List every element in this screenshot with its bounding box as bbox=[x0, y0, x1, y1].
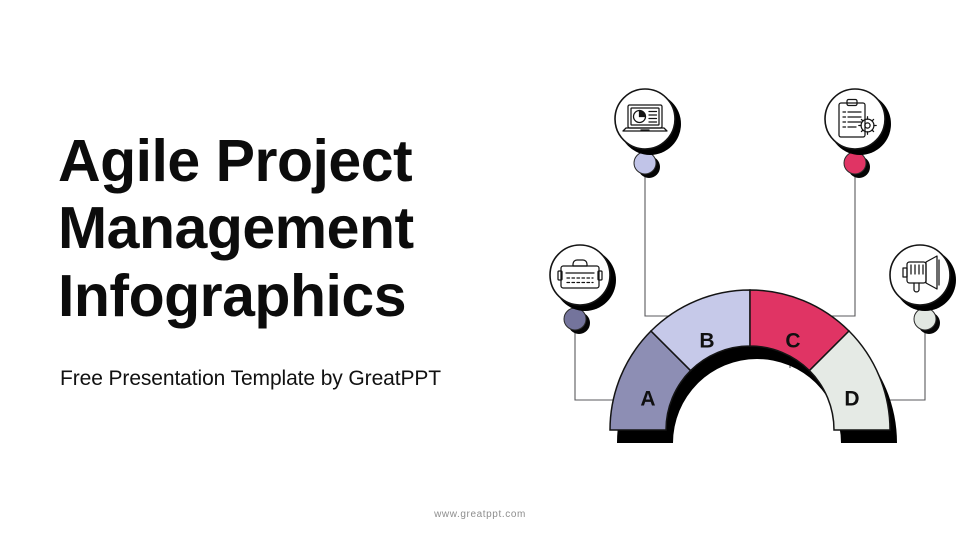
connector-dot-d[interactable] bbox=[914, 308, 936, 330]
icon-node-c[interactable] bbox=[825, 89, 891, 155]
icon-node-circle-a bbox=[550, 245, 610, 305]
icon-node-circle-c bbox=[825, 89, 885, 149]
icon-node-a[interactable] bbox=[550, 245, 616, 311]
icon-node-circle-d bbox=[890, 245, 950, 305]
connector-dot-a[interactable] bbox=[564, 308, 586, 330]
title-line-3: Infographics bbox=[58, 263, 538, 330]
donut-label-c: C bbox=[785, 330, 800, 353]
connector-dot-b[interactable] bbox=[634, 152, 656, 174]
semicircle-donut-infographic: A B C D bbox=[540, 70, 960, 470]
title-line-1: Agile Project bbox=[58, 128, 538, 195]
donut-label-b: B bbox=[699, 330, 714, 353]
page-title: Agile Project Management Infographics bbox=[58, 128, 538, 330]
slide-canvas: Agile Project Management Infographics Fr… bbox=[0, 0, 960, 540]
footer-url: www.greatppt.com bbox=[0, 509, 960, 520]
donut-label-a: A bbox=[640, 388, 655, 411]
connector-dot-c[interactable] bbox=[844, 152, 866, 174]
connector-line-a bbox=[575, 328, 618, 400]
connector-line-d bbox=[883, 328, 925, 400]
subtitle: Free Presentation Template by GreatPPT bbox=[60, 367, 441, 391]
donut-label-d: D bbox=[844, 388, 859, 411]
icon-node-d[interactable] bbox=[890, 245, 956, 311]
title-line-2: Management bbox=[58, 195, 538, 262]
icon-node-b[interactable] bbox=[615, 89, 681, 155]
